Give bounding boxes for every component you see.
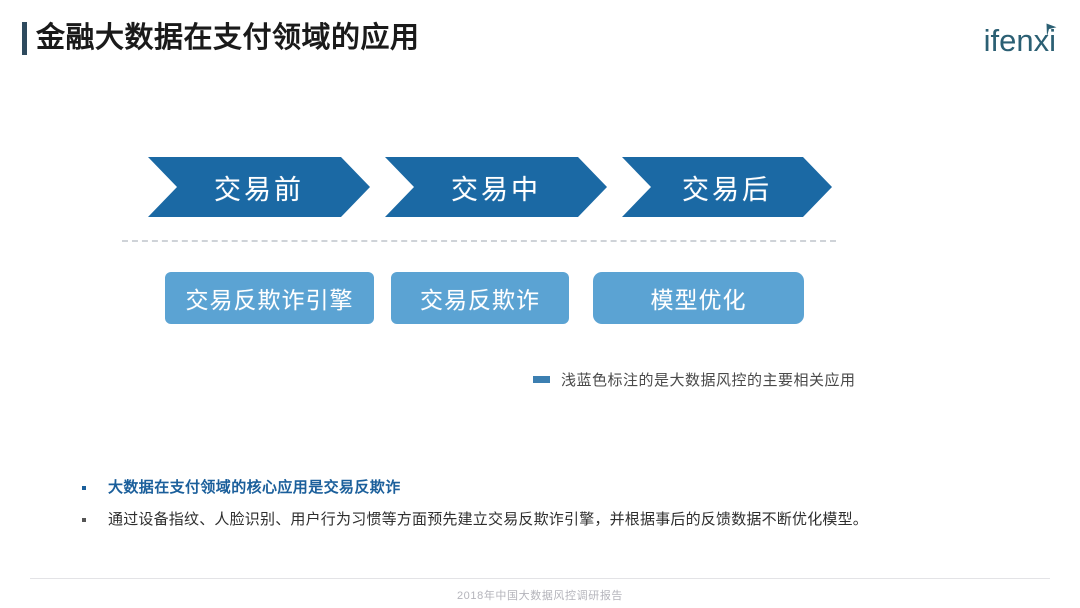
- application-tag-3-label: 模型优化: [651, 281, 747, 315]
- bullet-text-2: 通过设备指纹、人脸识别、用户行为习惯等方面预先建立交易反欺诈引擎，并根据事后的反…: [108, 511, 868, 529]
- slide-canvas: 金融大数据在支付领域的应用 ifenxi 交易前 交易中 交易后 交易反欺诈引擎…: [0, 0, 1080, 608]
- flow-stage-3[interactable]: 交易后: [622, 157, 832, 217]
- application-tag-1[interactable]: 交易反欺诈引擎: [165, 272, 374, 324]
- legend-label: 浅蓝色标注的是大数据风控的主要相关应用: [561, 369, 856, 390]
- title-label: 金融大数据在支付领域的应用: [36, 22, 420, 55]
- flow-stage-2[interactable]: 交易中: [385, 157, 607, 217]
- application-tag-1-label: 交易反欺诈引擎: [186, 281, 354, 315]
- application-tags: 交易反欺诈引擎 交易反欺诈 模型优化: [165, 272, 845, 326]
- brand-logo: ifenxi: [984, 24, 1056, 64]
- flow-stage-1[interactable]: 交易前: [148, 157, 370, 217]
- flow-stage-3-label: 交易后: [682, 168, 772, 207]
- flag-icon: [1045, 23, 1058, 37]
- bullet-marker-icon: [82, 486, 86, 490]
- list-item: 通过设备指纹、人脸识别、用户行为习惯等方面预先建立交易反欺诈引擎，并根据事后的反…: [82, 511, 1022, 529]
- flow-divider: [122, 240, 836, 242]
- flow-stage-2-label: 交易中: [451, 168, 541, 207]
- page-title: 金融大数据在支付领域的应用: [22, 22, 420, 55]
- slide-header: 金融大数据在支付领域的应用 ifenxi: [0, 0, 1080, 78]
- flow-stage-1-label: 交易前: [214, 168, 304, 207]
- process-flow: 交易前 交易中 交易后: [140, 157, 840, 219]
- legend: 浅蓝色标注的是大数据风控的主要相关应用: [533, 369, 856, 390]
- bullet-marker-icon: [82, 518, 86, 522]
- application-tag-2[interactable]: 交易反欺诈: [391, 272, 569, 324]
- footer-caption: 2018年中国大数据风控调研报告: [0, 587, 1080, 603]
- footer-divider: [30, 578, 1050, 579]
- application-tag-3[interactable]: 模型优化: [593, 272, 804, 324]
- bullet-list: 大数据在支付领域的核心应用是交易反欺诈 通过设备指纹、人脸识别、用户行为习惯等方…: [82, 479, 1022, 543]
- title-accent-bar: [22, 22, 27, 55]
- application-tag-2-label: 交易反欺诈: [420, 281, 540, 315]
- legend-swatch-icon: [533, 376, 550, 383]
- bullet-text-1: 大数据在支付领域的核心应用是交易反欺诈: [108, 479, 401, 497]
- list-item: 大数据在支付领域的核心应用是交易反欺诈: [82, 479, 1022, 497]
